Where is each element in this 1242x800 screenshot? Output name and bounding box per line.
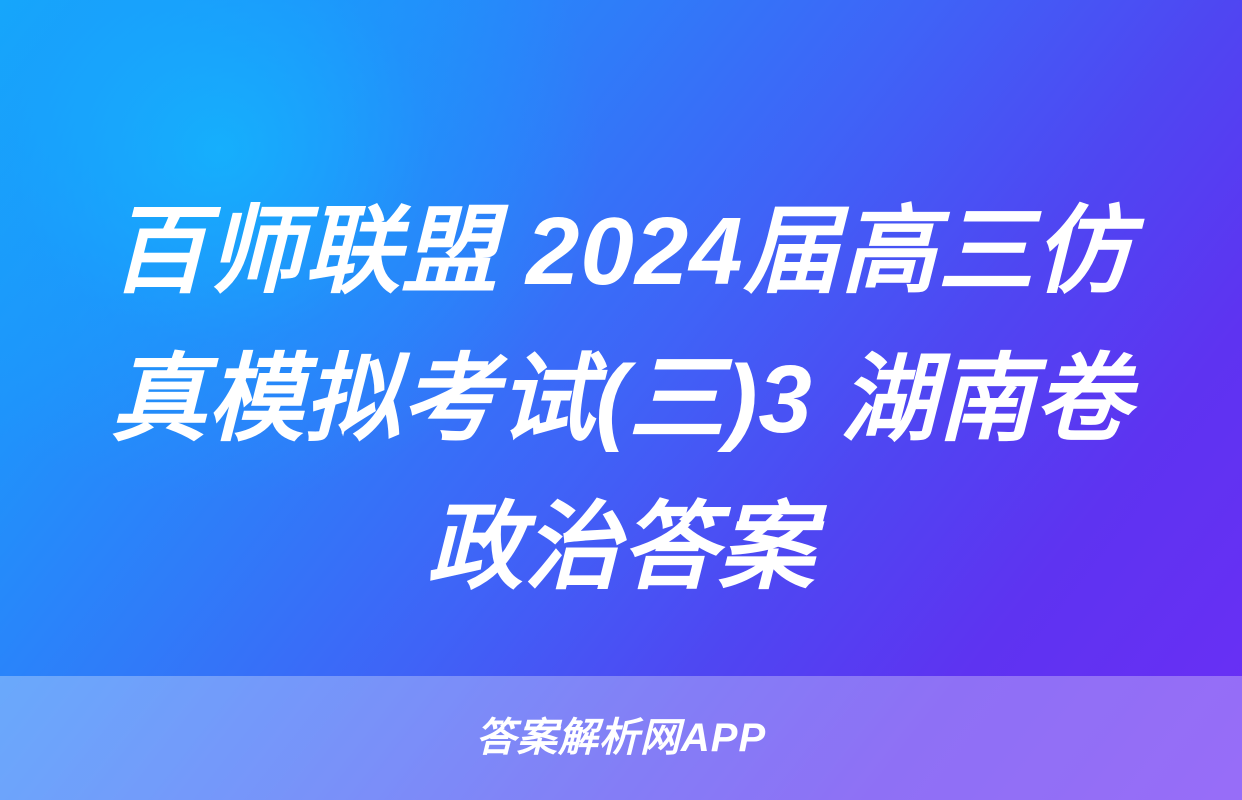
footer-watermark-text: 答案解析网APP: [476, 718, 766, 758]
answer-cover-poster: 百师联盟 2024届高三仿 真模拟考试(三)3 湖南卷 政治答案 答案解析网AP…: [0, 0, 1242, 800]
page-title: 百师联盟 2024届高三仿 真模拟考试(三)3 湖南卷 政治答案: [0, 178, 1242, 622]
footer-watermark-band: 答案解析网APP: [0, 676, 1242, 800]
